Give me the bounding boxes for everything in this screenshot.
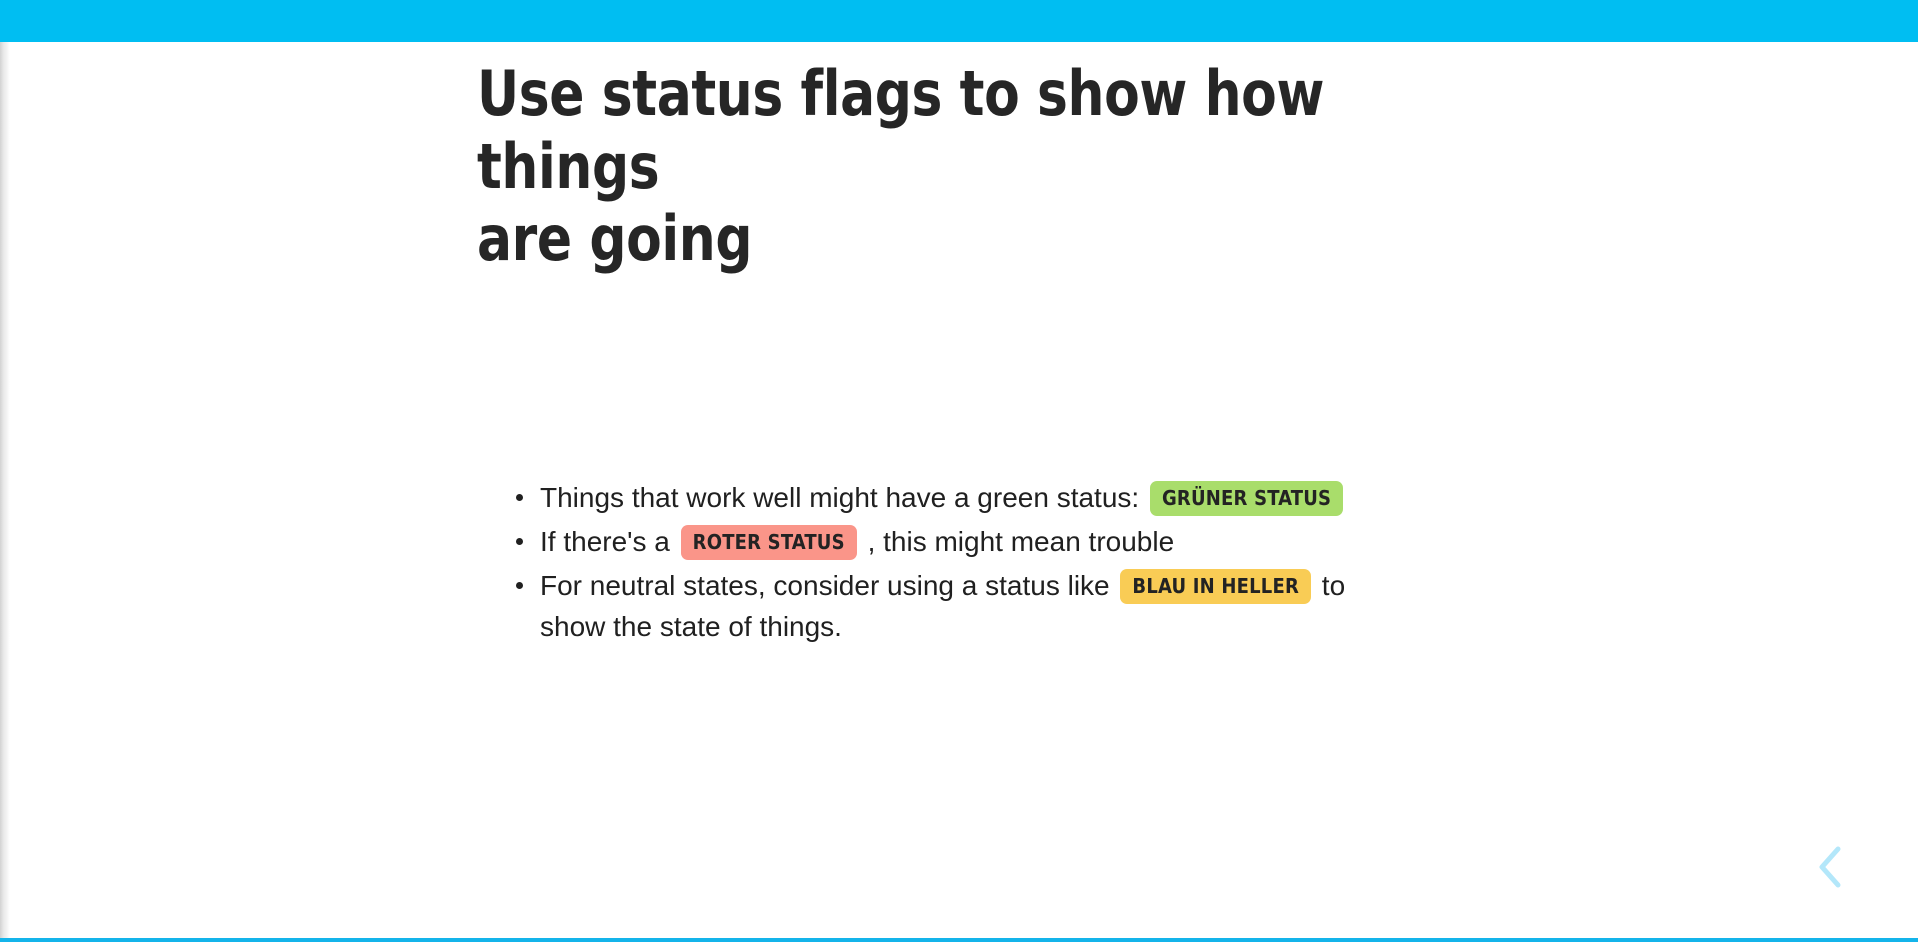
status-badge-yellow: BLAU IN HELLER [1120, 569, 1311, 604]
list-item: If there's a ROTER STATUS , this might m… [540, 522, 1412, 563]
bullet-text-before: For neutral states, consider using a sta… [540, 570, 1110, 601]
bottom-accent-rule [0, 938, 1918, 942]
title-block: Use status flags to show how things are … [477, 58, 1457, 276]
bullet-text-after: , this might mean trouble [868, 526, 1175, 557]
page-title: Use status flags to show how things are … [477, 58, 1388, 276]
top-accent-band [0, 0, 1918, 42]
previous-slide-button[interactable] [1806, 840, 1854, 894]
chevron-left-icon [1815, 844, 1845, 890]
bullet-text-before: Things that work well might have a green… [540, 482, 1139, 513]
list-item: Things that work well might have a green… [540, 478, 1412, 519]
body-content: Things that work well might have a green… [512, 478, 1412, 651]
list-item: For neutral states, consider using a sta… [540, 566, 1412, 648]
bullet-text-before: If there's a [540, 526, 670, 557]
status-badge-red: ROTER STATUS [681, 525, 857, 560]
left-edge-shadow [0, 42, 10, 938]
status-badge-green: GRÜNER STATUS [1150, 481, 1343, 516]
slide-canvas: Use status flags to show how things are … [0, 0, 1918, 942]
status-bullet-list: Things that work well might have a green… [512, 478, 1412, 648]
